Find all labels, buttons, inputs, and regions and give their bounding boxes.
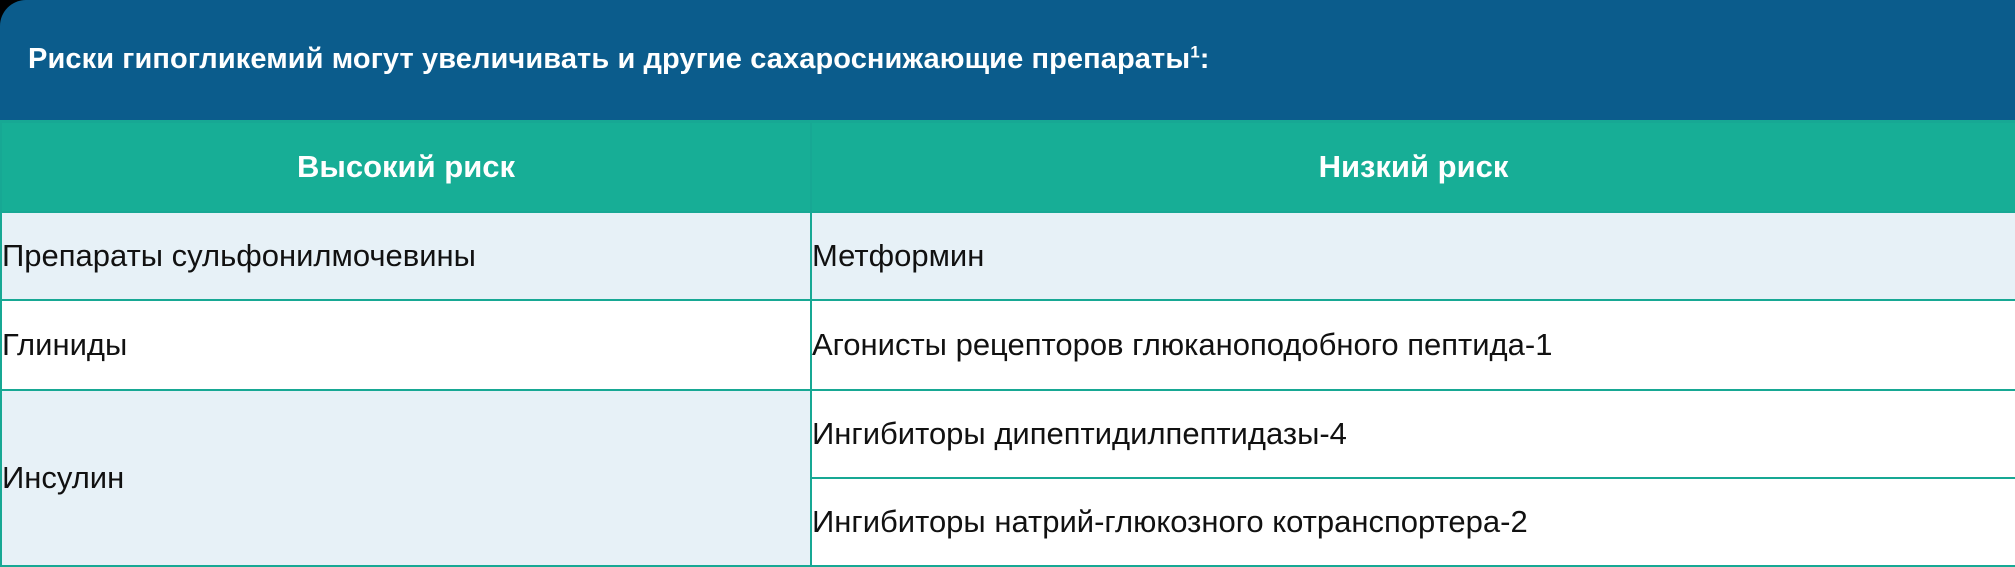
column-header-low-risk: Низкий риск bbox=[811, 122, 2015, 212]
cell-low-risk-3b: Ингибиторы натрий-глюкозного котранспорт… bbox=[811, 478, 2015, 566]
cell-low-risk-2: Агонисты рецепторов глюканоподобного пеп… bbox=[811, 300, 2015, 390]
cell-low-risk-1: Метформин bbox=[811, 212, 2015, 300]
slide-root: Риски гипогликемий могут увеличивать и д… bbox=[0, 0, 2015, 567]
table-row: Инсулин Ингибиторы дипептидилпептидазы-4 bbox=[1, 390, 2015, 478]
cell-high-risk-1: Препараты сульфонилмочевины bbox=[1, 212, 811, 300]
table-header-row: Высокий риск Низкий риск bbox=[1, 122, 2015, 212]
column-header-high-risk: Высокий риск bbox=[1, 122, 811, 212]
table-row: Препараты сульфонилмочевины Метформин bbox=[1, 212, 2015, 300]
risk-comparison-table: Высокий риск Низкий риск Препараты сульф… bbox=[0, 120, 2015, 567]
page-title-text: Риски гипогликемий могут увеличивать и д… bbox=[28, 43, 1190, 75]
table-row: Глиниды Агонисты рецепторов глюканоподоб… bbox=[1, 300, 2015, 390]
cell-high-risk-2: Глиниды bbox=[1, 300, 811, 390]
title-band: Риски гипогликемий могут увеличивать и д… bbox=[0, 0, 2015, 120]
cell-high-risk-3-insulin: Инсулин bbox=[1, 390, 811, 566]
page-title: Риски гипогликемий могут увеличивать и д… bbox=[0, 43, 1210, 76]
cell-low-risk-3a: Ингибиторы дипептидилпептидазы-4 bbox=[811, 390, 2015, 478]
page-title-superscript: 1 bbox=[1190, 43, 1200, 62]
page-title-suffix: : bbox=[1200, 43, 1210, 75]
